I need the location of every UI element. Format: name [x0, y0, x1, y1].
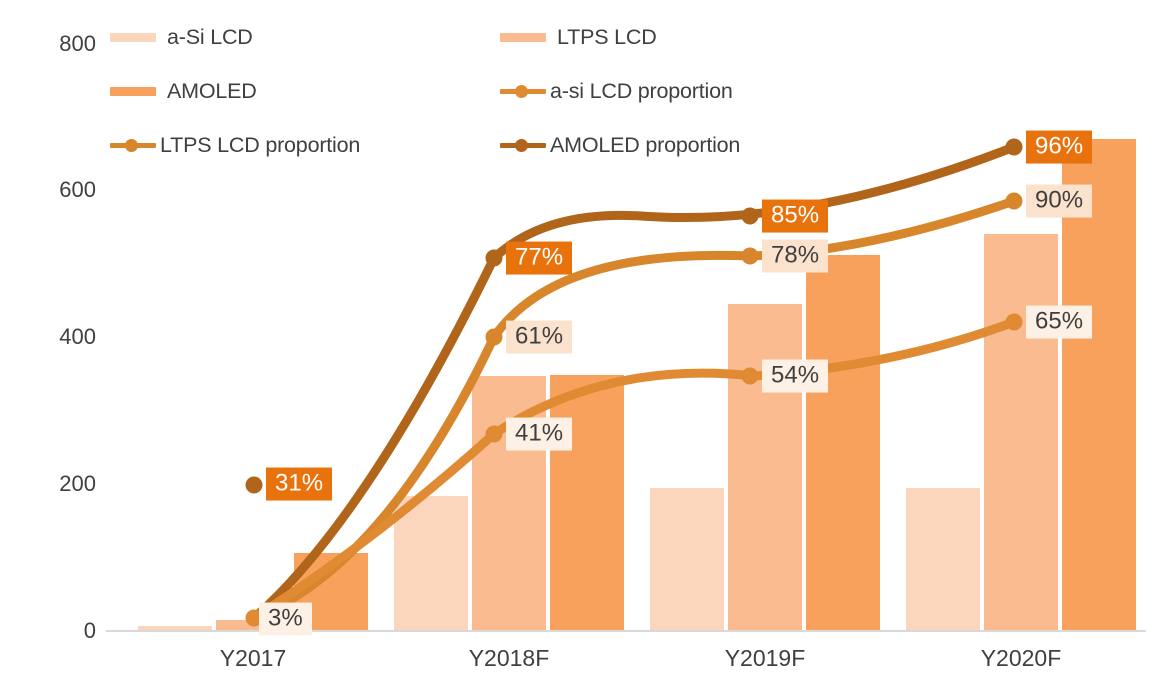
- bar-ltps-lcd-y2020f[interactable]: [984, 234, 1058, 630]
- marker-ltps-lcd-proportion-y2020f[interactable]: [1006, 193, 1023, 210]
- marker-amoled-proportion-y2019f[interactable]: [742, 208, 759, 225]
- bar-amoled-y2018f[interactable]: [550, 375, 624, 630]
- marker-amoled-proportion-y2017[interactable]: [246, 477, 263, 494]
- bar-amoled-y2019f[interactable]: [806, 255, 880, 630]
- data-label-a-si-lcd-proportion-y2020f: 65%: [1026, 306, 1092, 339]
- marker-a-si-lcd-proportion-y2020f[interactable]: [1006, 314, 1023, 331]
- data-label-ltps-lcd-proportion-y2018f: 61%: [506, 321, 572, 354]
- bar-a-si-lcd-y2020f[interactable]: [906, 488, 980, 630]
- x-tick-y2017: Y2017: [220, 645, 287, 672]
- data-label-ltps-lcd-proportion-y2019f: 78%: [762, 240, 828, 273]
- y-tick-0: 0: [26, 618, 96, 644]
- bar-ltps-lcd-y2019f[interactable]: [728, 304, 802, 630]
- bar-ltps-lcd-y2018f[interactable]: [472, 376, 546, 630]
- marker-amoled-proportion-y2018f[interactable]: [486, 250, 503, 267]
- line-amoled-proportion: [254, 147, 1014, 618]
- data-label-a-si-lcd-proportion-y2018f: 41%: [506, 418, 572, 451]
- y-tick-600: 600: [26, 177, 96, 203]
- y-tick-800: 800: [26, 31, 96, 57]
- y-axis: 800 600 400 200 0: [0, 0, 96, 696]
- y-tick-400: 400: [26, 324, 96, 350]
- data-label-a-si-lcd-proportion-y2019f: 54%: [762, 360, 828, 393]
- data-label-amoled-proportion-y2019f: 85%: [762, 200, 828, 233]
- marker-a-si-lcd-proportion-y2018f[interactable]: [486, 426, 503, 443]
- bar-a-si-lcd-y2018f[interactable]: [394, 496, 468, 630]
- data-label-ltps-lcd-proportion-y2020f: 90%: [1026, 185, 1092, 218]
- bar-a-si-lcd-y2019f[interactable]: [650, 488, 724, 630]
- marker-amoled-proportion-y2020f[interactable]: [1006, 139, 1023, 156]
- data-label-amoled-proportion-y2018f: 77%: [506, 242, 572, 275]
- data-label-amoled-proportion-y2017: 31%: [266, 468, 332, 501]
- marker-a-si-lcd-proportion-y2019f[interactable]: [742, 368, 759, 385]
- chart-container: a-Si LCD LTPS LCD AMOLED a-si LCD propor…: [0, 0, 1166, 696]
- marker-ltps-lcd-proportion-y2018f[interactable]: [486, 329, 503, 346]
- x-tick-y2020f: Y2020F: [981, 645, 1062, 672]
- line-ltps-lcd-proportion: [254, 201, 1014, 618]
- plot-area: 31% 3% 77% 61% 41% 85% 78% 54% 96% 90% 6…: [106, 0, 1146, 696]
- y-tick-200: 200: [26, 471, 96, 497]
- x-tick-y2018f: Y2018F: [469, 645, 550, 672]
- marker-ltps-lcd-proportion-y2019f[interactable]: [742, 248, 759, 265]
- x-tick-y2019f: Y2019F: [725, 645, 806, 672]
- data-label-amoled-proportion-y2020f: 96%: [1026, 131, 1092, 164]
- data-label-a-si-lcd-proportion-y2017: 3%: [259, 603, 312, 636]
- line-a-si-lcd-proportion: [254, 322, 1014, 618]
